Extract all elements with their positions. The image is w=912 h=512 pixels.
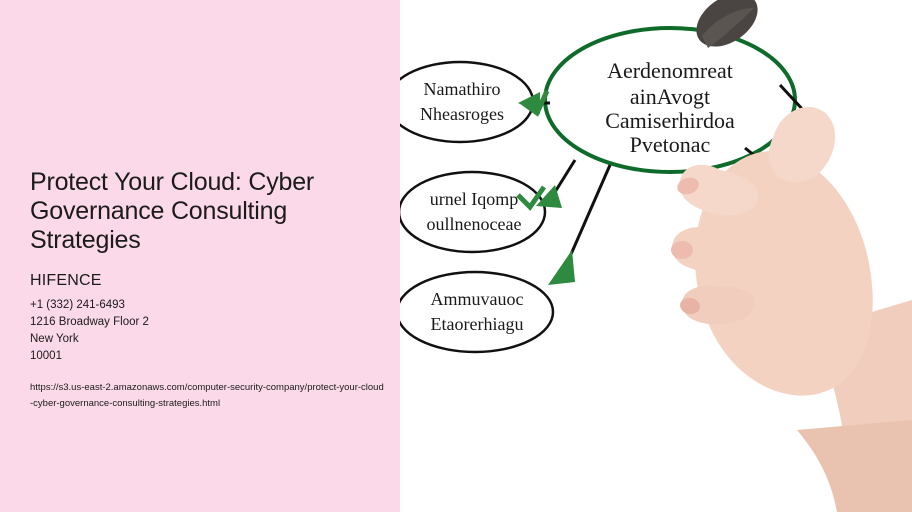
branch-3-ellipse [400,272,553,352]
promo-card: Protect Your Cloud: Cyber Governance Con… [0,0,912,512]
hand-holding-marker [662,0,912,512]
wrist-shadow [797,420,912,512]
diagram-image-panel: Aerdenomreat ainAvogt Camiserhirdoa Pvet… [400,0,912,512]
branch-1-line2: Nheasroges [420,104,504,124]
address-line: 1216 Broadway Floor 2 [30,314,390,331]
branch-2-line1: urnel Iqomp [430,189,518,209]
source-url[interactable]: https://s3.us-east-2.amazonaws.com/compu… [30,380,385,412]
branch-3-line2: Etaorerhiagu [431,314,524,334]
company-name: HIFENCE [30,272,102,290]
left-info-panel: Protect Your Cloud: Cyber Governance Con… [0,0,400,512]
phone-number: +1 (332) 241-6493 [30,297,390,314]
branch-1-ellipse [400,62,533,142]
thumb [769,107,835,182]
contact-block: +1 (332) 241-6493 1216 Broadway Floor 2 … [30,297,390,365]
page-title: Protect Your Cloud: Cyber Governance Con… [30,168,380,255]
zip-line: 10001 [30,348,390,365]
branch-1-line1: Namathiro [424,79,501,99]
branch-3-line1: Ammuvauoc [431,289,524,309]
middle-nail [671,241,693,259]
city-line: New York [30,331,390,348]
branch-2-line2: oullnenoceae [427,214,522,234]
arrowhead-branch3 [548,250,575,285]
branch-2-ellipse [400,172,545,252]
